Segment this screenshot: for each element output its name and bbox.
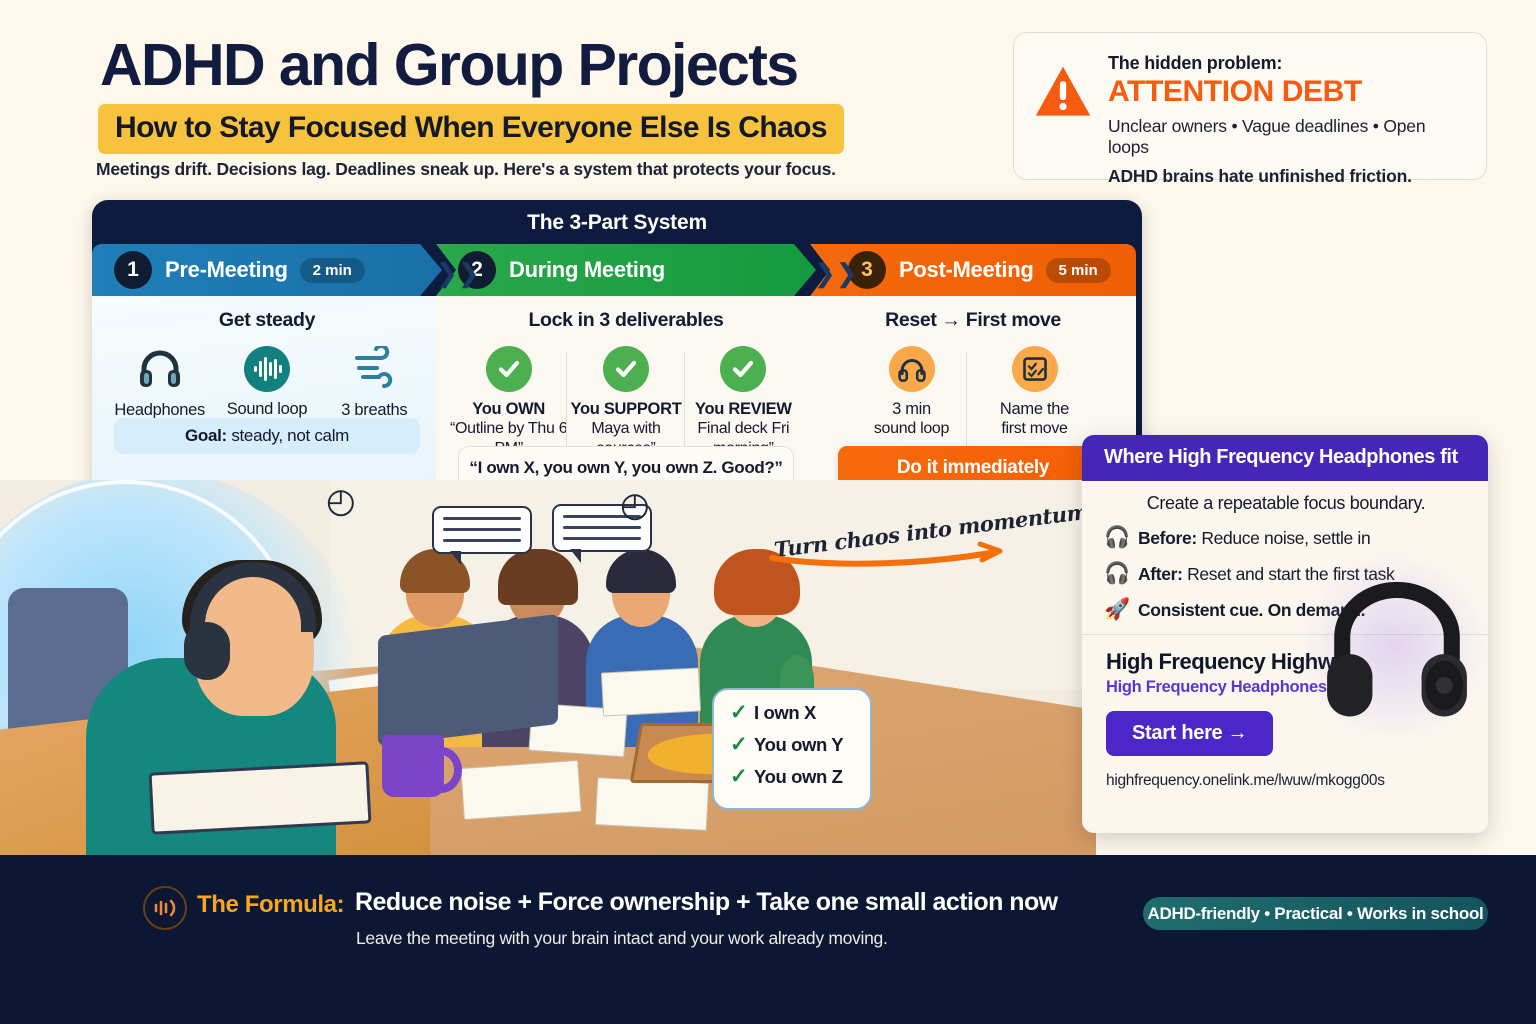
check-mark-icon: ✓ [730, 764, 754, 789]
hair [498, 549, 578, 605]
formula-subtext: Leave the meeting with your brain intact… [356, 928, 888, 949]
check-circle-icon [486, 346, 532, 392]
page-deck: Meetings drift. Decisions lag. Deadlines… [96, 159, 836, 180]
footer-bar: The Formula: Reduce noise + Force owners… [0, 855, 1536, 1024]
product-card[interactable]: Where High Frequency Headphones fit Crea… [1082, 435, 1488, 833]
divider [966, 352, 967, 452]
swoosh-arrow-icon [768, 538, 1008, 568]
subtitle-band: How to Stay Focused When Everyone Else I… [98, 104, 844, 154]
check-item-2: You own Z [754, 766, 843, 788]
step-1-time: 2 min [300, 258, 365, 283]
step-3-name: Post-Meeting [899, 257, 1034, 283]
sound-wave-icon [244, 346, 290, 392]
system-columns: 1 Pre-Meeting 2 min Get steady [92, 244, 1142, 500]
step-3-item-1: Name the first move [973, 346, 1096, 439]
product-footer: High Frequency Highway High Frequency He… [1082, 635, 1488, 790]
flow-arrow-2-to-3: ❯❯ [814, 258, 858, 289]
step-3-header: 3 Post-Meeting 5 min [810, 244, 1136, 296]
step-1-number: 1 [114, 251, 152, 289]
headphone-cup [184, 622, 230, 680]
step-3-item-0-label: 3 min [850, 400, 973, 419]
check-mark-icon: ✓ [730, 700, 754, 725]
headphones-icon: 🎧 [1104, 562, 1138, 586]
check-row: ✓ You own Y [730, 732, 870, 757]
alert-kicker: The hidden problem: [1108, 53, 1468, 74]
step-2-item-1: You SUPPORT Maya with sources” [567, 346, 684, 459]
product-card-header: Where High Frequency Headphones fit [1082, 435, 1488, 481]
scribble-icon: ◴ [326, 490, 356, 514]
step-3-item-0-sub: sound loop [850, 419, 973, 439]
ownership-check-card: ✓ I own X ✓ You own Y ✓ You own Z [712, 688, 872, 810]
step-1-name: Pre-Meeting [165, 257, 288, 283]
step-card-pre-meeting[interactable]: 1 Pre-Meeting 2 min Get steady [92, 244, 442, 500]
step-2-item-0-label: You OWN [450, 400, 567, 419]
formula-text: Reduce noise + Force ownership + Take on… [355, 888, 1058, 917]
start-here-button[interactable]: Start here → [1106, 711, 1273, 756]
product-row-before-rest: Reduce noise, settle in [1197, 528, 1371, 548]
step-2-item-2: You REVIEW Final deck Fri morning” [685, 346, 802, 459]
paper [601, 667, 701, 716]
product-url[interactable]: highfrequency.onelink.me/lwuw/mkogg00s [1106, 772, 1488, 790]
check-circle-icon [720, 346, 766, 392]
step-2-item-2-label: You REVIEW [685, 400, 802, 419]
step-2-header: 2 During Meeting [436, 244, 816, 296]
product-row-before-bold: Before: [1138, 528, 1197, 548]
breath-wind-icon [351, 346, 397, 388]
system-panel-title: The 3-Part System [92, 211, 1142, 235]
step-2-body: Lock in 3 deliverables You OWN “Outline … [436, 296, 816, 500]
product-row-after-bold: After: [1138, 564, 1183, 584]
step-2-name: During Meeting [509, 257, 665, 283]
step-1-goal-text: steady, not calm [227, 426, 349, 445]
three-part-system-panel: The 3-Part System 1 Pre-Meeting 2 min Ge… [92, 200, 1142, 500]
alert-headline: ATTENTION DEBT [1108, 75, 1468, 110]
product-row-before-text: Before: Reduce noise, settle in [1138, 528, 1370, 549]
sound-waves-icon [143, 886, 187, 930]
check-item-0: I own X [754, 702, 816, 724]
headphones-icon [889, 346, 935, 392]
step-3-items: 3 min sound loop [824, 346, 1122, 439]
formula-label: The Formula: [197, 891, 344, 919]
hidden-problem-card: The hidden problem: ATTENTION DEBT Uncle… [1013, 32, 1487, 180]
step-2-item-1-label: You SUPPORT [567, 400, 684, 419]
rocket-icon: 🚀 [1104, 598, 1138, 622]
step-1-goal-pill: Goal: steady, not calm [114, 418, 420, 454]
flow-arrow-1-to-2: ❯❯ [436, 258, 480, 289]
warning-triangle-icon [1034, 63, 1092, 121]
check-row: ✓ You own Z [730, 764, 870, 789]
scribble-icon: ◴ [620, 494, 650, 518]
check-circle-icon [603, 346, 649, 392]
check-row: ✓ I own X [730, 700, 870, 725]
check-mark-icon: ✓ [730, 732, 754, 757]
infographic-page: ADHD and Group Projects How to Stay Focu… [0, 0, 1536, 1024]
headphones-icon [137, 346, 183, 388]
paper [460, 760, 581, 820]
check-item-1: You own Y [754, 734, 843, 756]
page-title: ADHD and Group Projects [100, 36, 798, 95]
paper [595, 777, 709, 831]
alert-line-1: Unclear owners • Vague deadlines • Open … [1108, 116, 1468, 158]
step-card-during-meeting[interactable]: 2 During Meeting Lock in 3 deliverables … [436, 244, 816, 500]
step-1-heading: Get steady [106, 296, 428, 332]
step-3-item-1-label: Name the [973, 400, 1096, 419]
alert-line-2: ADHD brains hate unfinished friction. [1108, 166, 1468, 187]
step-1-body: Get steady Headphones [92, 296, 442, 500]
notebook [149, 761, 372, 834]
step-1-item-1-label: Sound loop [213, 400, 320, 419]
footer-tags-pill: ADHD-friendly • Practical • Works in sch… [1143, 897, 1488, 930]
laptop [378, 614, 558, 746]
step-2-item-0: You OWN “Outline by Thu 6 PM” [450, 346, 567, 459]
headphones-icon: 🎧 [1104, 526, 1138, 550]
product-lead: Create a repeatable focus boundary. [1104, 493, 1468, 514]
mug [382, 735, 444, 797]
step-2-heading: Lock in 3 deliverables [450, 296, 802, 332]
step-3-item-1-sub: first move [973, 419, 1096, 439]
headphones-product-photo [1312, 561, 1482, 736]
step-1-goal-label: Goal: [185, 426, 227, 445]
checklist-icon [1012, 346, 1058, 392]
step-2-items: You OWN “Outline by Thu 6 PM” You SUPPOR… [450, 346, 802, 459]
page-subtitle: How to Stay Focused When Everyone Else I… [115, 111, 827, 144]
step-3-heading: Reset → First move [824, 296, 1122, 332]
step-1-header: 1 Pre-Meeting 2 min [92, 244, 442, 296]
product-row-before: 🎧 Before: Reduce noise, settle in [1104, 526, 1468, 550]
step-3-item-0: 3 min sound loop [850, 346, 973, 439]
step-3-time: 5 min [1046, 258, 1111, 283]
speech-bubble [432, 506, 532, 554]
